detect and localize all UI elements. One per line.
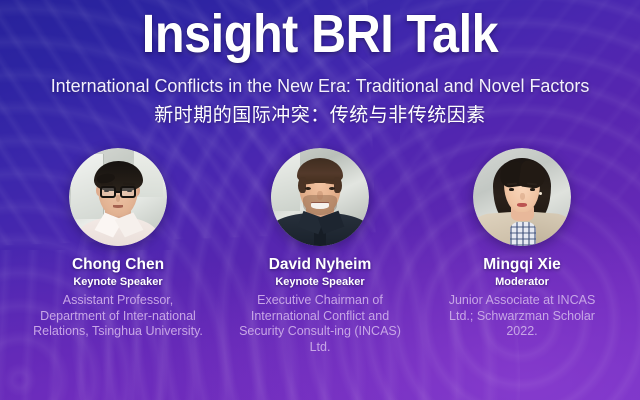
avatar [271, 148, 369, 246]
portrait-chong-chen [69, 148, 167, 246]
portrait-eye-right [329, 187, 335, 190]
speaker-bio: Executive Chairman of International Conf… [230, 293, 410, 355]
speaker-list: Chong Chen Keynote Speaker Assistant Pro… [0, 148, 640, 355]
portrait-mingqi-xie [473, 148, 571, 246]
speaker-card: Mingqi Xie Moderator Junior Associate at… [432, 148, 612, 340]
eyeglasses-lens-right-icon [120, 186, 136, 198]
portrait-david-nyheim [271, 148, 369, 246]
avatar [69, 148, 167, 246]
portrait-nose [520, 193, 525, 200]
speaker-name: Mingqi Xie [432, 256, 612, 274]
portrait-hair-temple-left [298, 177, 306, 193]
portrait-eye-left [509, 188, 514, 191]
speaker-name: David Nyheim [230, 256, 410, 274]
portrait-hair-temple-right [334, 177, 342, 193]
speaker-role: Keynote Speaker [230, 275, 410, 289]
avatar [473, 148, 571, 246]
speaker-bio: Junior Associate at INCAS Ltd.; Schwarzm… [432, 293, 612, 340]
speaker-card: David Nyheim Keynote Speaker Executive C… [230, 148, 410, 355]
portrait-checked-shirt [510, 222, 535, 246]
portrait-window-left [271, 152, 300, 211]
poster-title: Insight BRI Talk [32, 0, 608, 64]
speaker-name: Chong Chen [28, 256, 208, 274]
speaker-role: Keynote Speaker [28, 275, 208, 289]
event-poster: Insight BRI Talk International Conflicts… [0, 0, 640, 400]
speaker-role: Moderator [432, 275, 612, 289]
eyeglasses-bridge-icon [116, 191, 121, 193]
poster-content: Insight BRI Talk International Conflicts… [0, 0, 640, 400]
portrait-eye-right [530, 188, 535, 191]
portrait-mouth [113, 205, 124, 208]
portrait-eye-left [305, 187, 311, 190]
poster-subtitle-english: International Conflicts in the New Era: … [10, 74, 631, 98]
earring-icon [539, 192, 542, 195]
eyeglasses-lens-left-icon [100, 186, 116, 198]
speaker-bio: Assistant Professor, Department of Inter… [28, 293, 208, 340]
portrait-nose [317, 191, 323, 200]
poster-subtitle-chinese: 新时期的国际冲突：传统与非传统因素 [0, 104, 640, 128]
speaker-card: Chong Chen Keynote Speaker Assistant Pro… [28, 148, 208, 340]
